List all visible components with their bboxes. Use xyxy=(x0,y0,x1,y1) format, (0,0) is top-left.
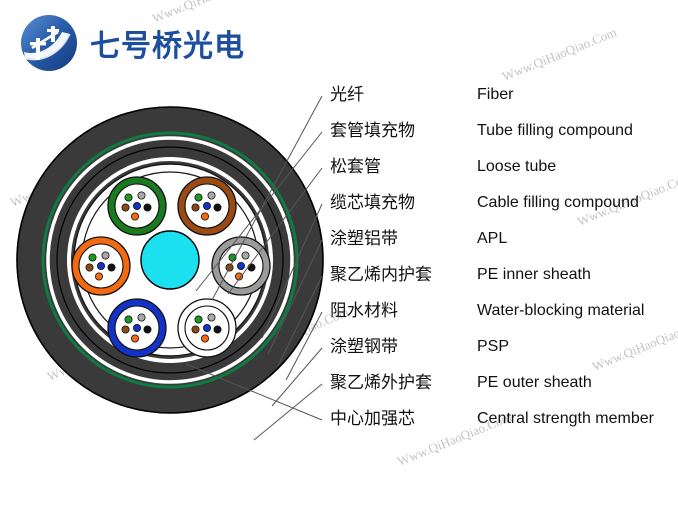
callout-row-fiber: 光纤Fiber xyxy=(0,84,678,106)
callout-label-cn-pe-outer: 聚乙烯外护套 xyxy=(330,372,432,394)
callout-row-loose-tube: 松套管Loose tube xyxy=(0,156,678,178)
callout-label-en-water-block: Water-blocking material xyxy=(477,300,644,322)
callout-row-cable-filling: 缆芯填充物Cable filling compound xyxy=(0,192,678,214)
callout-label-cn-water-block: 阻水材料 xyxy=(330,300,398,322)
callout-label-en-pe-inner: PE inner sheath xyxy=(477,264,591,286)
callout-label-en-apl: APL xyxy=(477,228,507,250)
callout-row-pe-outer: 聚乙烯外护套PE outer sheath xyxy=(0,372,678,394)
callout-label-en-csm: Central strength member xyxy=(477,408,654,430)
callout-label-cn-psp: 涂塑钢带 xyxy=(330,336,398,358)
callout-label-en-cable-filling: Cable filling compound xyxy=(477,192,639,214)
callout-label-list: 光纤Fiber套管填充物Tube filling compound松套管Loos… xyxy=(0,0,678,505)
callout-row-apl: 涂塑铝带APL xyxy=(0,228,678,250)
callout-row-csm: 中心加强芯Central strength member xyxy=(0,408,678,430)
callout-label-en-tube-filling: Tube filling compound xyxy=(477,120,633,142)
callout-label-en-psp: PSP xyxy=(477,336,509,358)
callout-label-cn-apl: 涂塑铝带 xyxy=(330,228,398,250)
callout-label-en-fiber: Fiber xyxy=(477,84,513,106)
callout-label-cn-fiber: 光纤 xyxy=(330,84,364,106)
callout-label-cn-tube-filling: 套管填充物 xyxy=(330,120,415,142)
callout-row-psp: 涂塑钢带PSP xyxy=(0,336,678,358)
callout-row-pe-inner: 聚乙烯内护套PE inner sheath xyxy=(0,264,678,286)
callout-label-cn-loose-tube: 松套管 xyxy=(330,156,381,178)
callout-row-tube-filling: 套管填充物Tube filling compound xyxy=(0,120,678,142)
callout-row-water-block: 阻水材料Water-blocking material xyxy=(0,300,678,322)
callout-label-cn-csm: 中心加强芯 xyxy=(330,408,415,430)
callout-label-en-pe-outer: PE outer sheath xyxy=(477,372,592,394)
callout-label-cn-cable-filling: 缆芯填充物 xyxy=(330,192,415,214)
cable-cross-section-page: Www.QiHaoQiao.ComWww.QiHaoQiao.ComWww.Qi… xyxy=(0,0,678,505)
callout-label-en-loose-tube: Loose tube xyxy=(477,156,556,178)
callout-label-cn-pe-inner: 聚乙烯内护套 xyxy=(330,264,432,286)
